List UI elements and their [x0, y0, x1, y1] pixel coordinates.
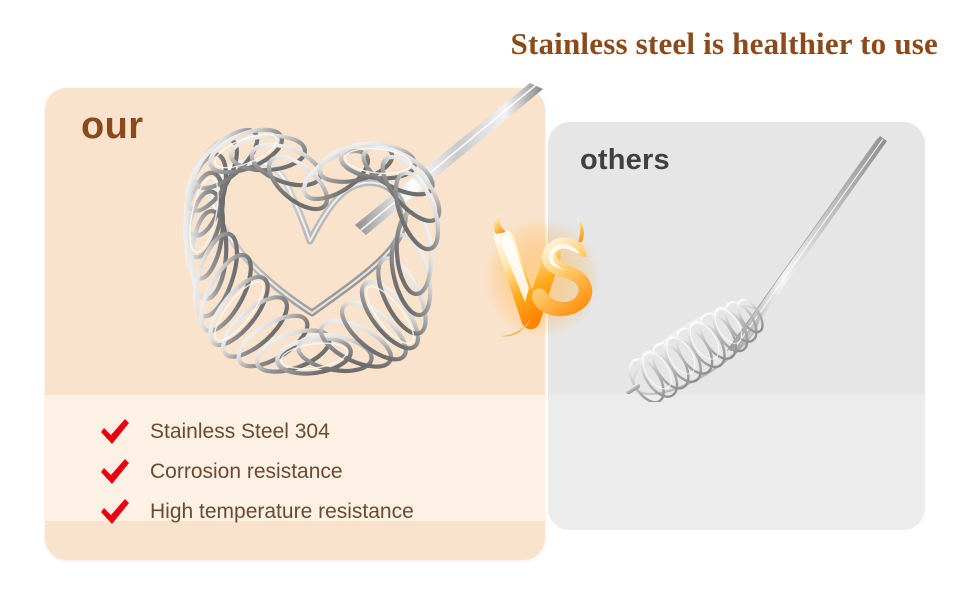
- check-icon: [98, 458, 132, 486]
- list-item-label: Stainless Steel 304: [150, 420, 330, 444]
- list-item-label: High temperature resistance: [150, 500, 414, 524]
- others-card: others: [548, 122, 925, 530]
- list-item-label: Corrosion resistance: [150, 460, 343, 484]
- our-card: our: [45, 88, 545, 560]
- versus-badge: [482, 212, 602, 347]
- our-product-image: [100, 83, 545, 403]
- our-feature-list: Stainless Steel 304 Corrosion resistance…: [98, 412, 528, 532]
- others-product-image: [608, 132, 925, 402]
- list-item: High temperature resistance: [98, 492, 528, 532]
- check-icon: [98, 498, 132, 526]
- list-item: Stainless Steel 304: [98, 412, 528, 452]
- list-item: Corrosion resistance: [98, 452, 528, 492]
- page-title: Stainless steel is healthier to use: [0, 26, 938, 62]
- check-icon: [98, 418, 132, 446]
- others-list-panel: [548, 394, 925, 530]
- comparison-infographic: Stainless steel is healthier to use othe…: [0, 0, 970, 600]
